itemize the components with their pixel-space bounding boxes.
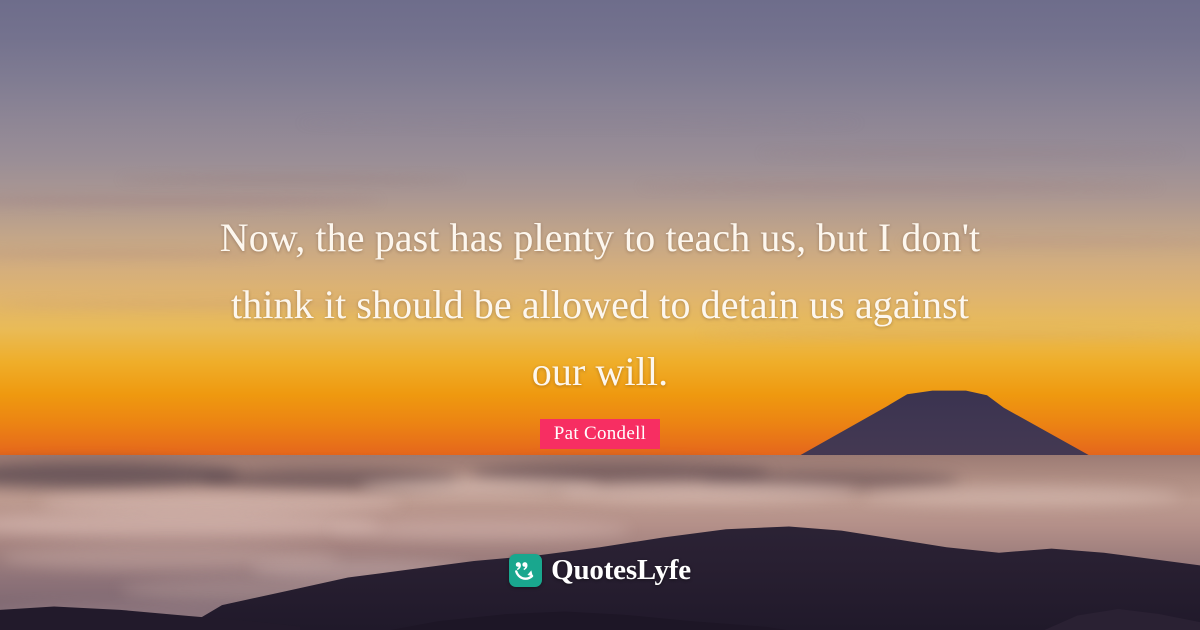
brand-logo[interactable]: QuotesLyfe [0, 554, 1200, 587]
cloud-streak [120, 176, 460, 183]
cloud-streak [760, 150, 1180, 157]
quote-smiley-icon [509, 554, 542, 587]
author-badge-container: Pat Condell [0, 419, 1200, 449]
quote-text: Now, the past has plenty to teach us, bu… [0, 204, 1200, 405]
quote-card: Now, the past has plenty to teach us, bu… [0, 0, 1200, 630]
cloud-bank [860, 486, 1180, 506]
author-badge[interactable]: Pat Condell [540, 419, 661, 449]
cloud-bank [330, 520, 630, 540]
cloud-streak [300, 120, 860, 126]
cloud-bank [40, 492, 400, 514]
cloud-streak [640, 182, 1160, 191]
cloud-bank [560, 482, 860, 502]
brand-name: QuotesLyfe [551, 556, 691, 585]
